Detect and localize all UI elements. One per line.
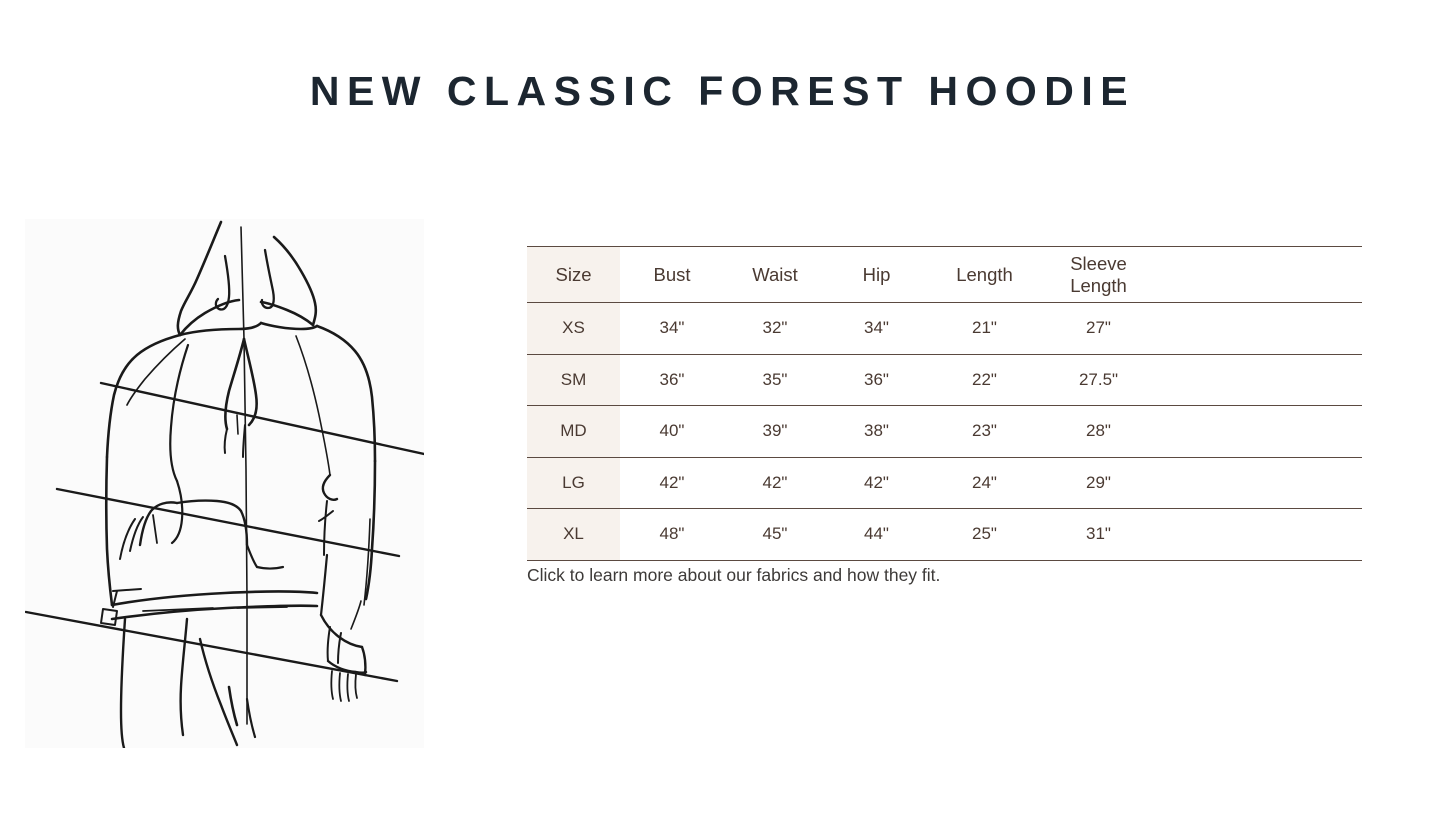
- cell-size: LG: [527, 457, 620, 509]
- cell-spacer: [1155, 509, 1362, 561]
- cell-hip: 36": [826, 354, 927, 406]
- table-row: LG 42" 42" 42" 24" 29": [527, 457, 1362, 509]
- cell-sleeve-length: 28": [1042, 406, 1155, 458]
- column-header-size: Size: [527, 247, 620, 303]
- cell-sleeve-length: 27": [1042, 303, 1155, 355]
- cell-hip: 44": [826, 509, 927, 561]
- table-header-row: Size Bust Waist Hip Length Sleeve Length: [527, 247, 1362, 303]
- table-body: XS 34" 32" 34" 21" 27" SM 36" 35" 36" 22…: [527, 303, 1362, 561]
- size-chart-table-wrapper: Size Bust Waist Hip Length Sleeve Length…: [527, 246, 1362, 561]
- column-header-bust: Bust: [620, 247, 724, 303]
- cell-bust: 36": [620, 354, 724, 406]
- column-header-spacer: [1155, 247, 1362, 303]
- cell-spacer: [1155, 354, 1362, 406]
- table-row: XS 34" 32" 34" 21" 27": [527, 303, 1362, 355]
- cell-size: XL: [527, 509, 620, 561]
- table-header: Size Bust Waist Hip Length Sleeve Length: [527, 247, 1362, 303]
- cell-length: 23": [927, 406, 1042, 458]
- table-row: MD 40" 39" 38" 23" 28": [527, 406, 1362, 458]
- cell-hip: 34": [826, 303, 927, 355]
- cell-waist: 35": [724, 354, 826, 406]
- cell-spacer: [1155, 303, 1362, 355]
- size-chart-table: Size Bust Waist Hip Length Sleeve Length…: [527, 246, 1362, 561]
- cell-waist: 32": [724, 303, 826, 355]
- cell-size: MD: [527, 406, 620, 458]
- column-header-hip: Hip: [826, 247, 927, 303]
- cell-length: 24": [927, 457, 1042, 509]
- cell-waist: 45": [724, 509, 826, 561]
- cell-bust: 34": [620, 303, 724, 355]
- column-header-length: Length: [927, 247, 1042, 303]
- cell-waist: 42": [724, 457, 826, 509]
- cell-length: 22": [927, 354, 1042, 406]
- column-header-sleeve-length: Sleeve Length: [1042, 247, 1155, 303]
- hoodie-sketch-illustration: [25, 219, 424, 748]
- hoodie-sketch-svg: [25, 219, 424, 748]
- cell-length: 21": [927, 303, 1042, 355]
- cell-spacer: [1155, 406, 1362, 458]
- table-row: XL 48" 45" 44" 25" 31": [527, 509, 1362, 561]
- cell-waist: 39": [724, 406, 826, 458]
- cell-sleeve-length: 29": [1042, 457, 1155, 509]
- cell-size: SM: [527, 354, 620, 406]
- column-header-waist: Waist: [724, 247, 826, 303]
- cell-sleeve-length: 27.5": [1042, 354, 1155, 406]
- cell-size: XS: [527, 303, 620, 355]
- cell-bust: 48": [620, 509, 724, 561]
- page-title: NEW CLASSIC FOREST HOODIE: [0, 68, 1445, 115]
- cell-bust: 42": [620, 457, 724, 509]
- cell-sleeve-length: 31": [1042, 509, 1155, 561]
- cell-hip: 38": [826, 406, 927, 458]
- cell-spacer: [1155, 457, 1362, 509]
- cell-length: 25": [927, 509, 1042, 561]
- cell-hip: 42": [826, 457, 927, 509]
- cell-bust: 40": [620, 406, 724, 458]
- fabric-info-link[interactable]: Click to learn more about our fabrics an…: [527, 565, 940, 586]
- table-row: SM 36" 35" 36" 22" 27.5": [527, 354, 1362, 406]
